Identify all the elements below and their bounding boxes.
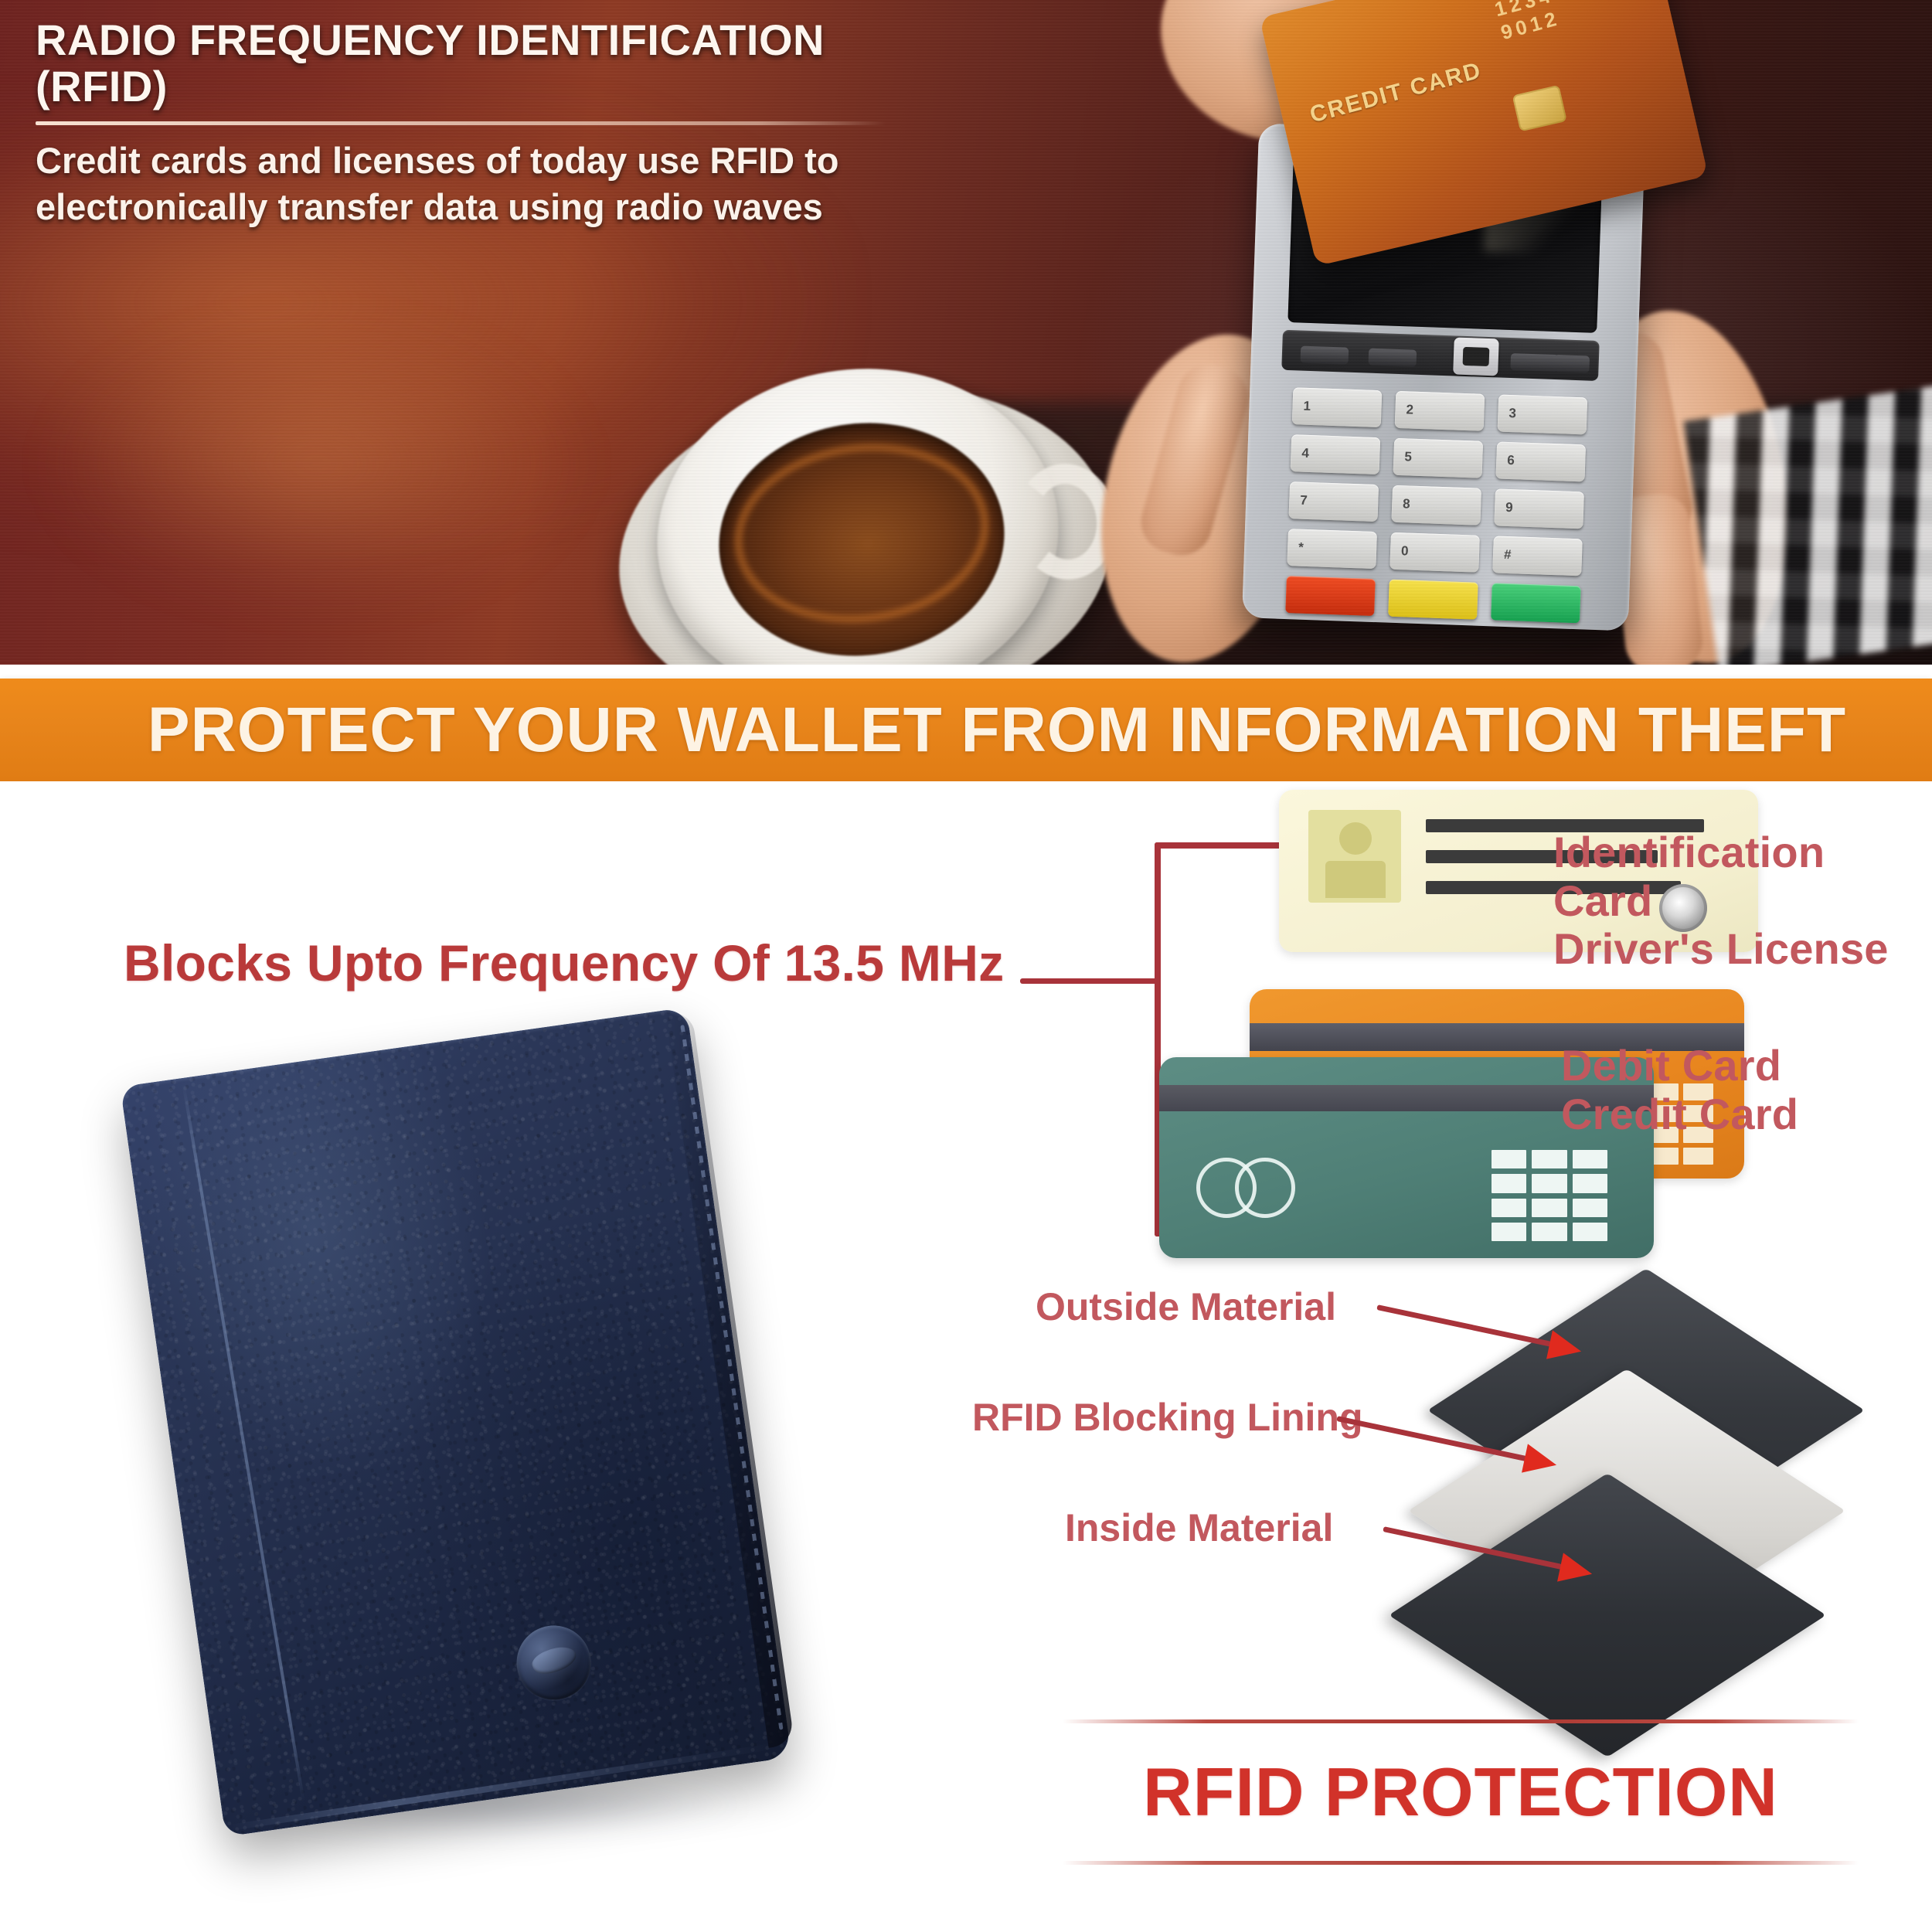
protect-wallet-banner: PROTECT YOUR WALLET FROM INFORMATION THE… [0, 679, 1932, 781]
header-subtitle-line2: electronically transfer data using radio… [36, 184, 947, 230]
frequency-label: Blocks Upto Frequency Of 13.5 MHz [124, 934, 1004, 992]
inside-material-label: Inside Material [1065, 1505, 1333, 1550]
terminal-keypad: 1 2 3 4 5 6 7 8 9 * 0 # [1285, 387, 1588, 623]
header-text-block: RADIO FREQUENCY IDENTIFICATION (RFID) Cr… [36, 17, 947, 230]
debit-card-label-line2: Credit Card [1561, 1090, 1798, 1139]
enter-key-green [1491, 583, 1581, 623]
function-key-row [1285, 576, 1581, 623]
keypad-row: 7 8 9 [1288, 481, 1584, 529]
clear-key-yellow [1388, 580, 1478, 620]
credit-card-number: 1234 5678 9012 [1492, 0, 1669, 45]
id-photo-placeholder [1308, 810, 1401, 903]
connector-dash [1020, 978, 1159, 984]
page-title: RADIO FREQUENCY IDENTIFICATION (RFID) [36, 17, 947, 111]
dual-circle-payment-logo-icon [1196, 1158, 1312, 1218]
header-subtitle-line1: Credit cards and licenses of today use R… [36, 138, 947, 184]
keypad-row: * 0 # [1287, 529, 1583, 576]
identification-card-label: Identification Card Driver's License [1553, 828, 1932, 974]
identification-card-label-line2: Driver's License [1553, 925, 1932, 974]
connector-branch-top [1155, 842, 1294, 849]
key-6: 6 [1495, 441, 1586, 481]
key-0: 0 [1389, 532, 1480, 573]
wood-table-highlight-secondary [46, 325, 587, 603]
card-number-grid-icon [1492, 1150, 1607, 1241]
emv-chip-icon [1512, 85, 1567, 132]
debit-credit-card-label: Debit Card Credit Card [1561, 1042, 1798, 1138]
key-7: 7 [1288, 481, 1379, 522]
key-4: 4 [1291, 434, 1381, 474]
hero-photo-banner: 1 2 3 4 5 6 7 8 9 * 0 # [0, 0, 1932, 665]
terminal-nav-right-arrow [1510, 353, 1559, 372]
outside-material-label: Outside Material [1036, 1284, 1336, 1329]
title-divider [36, 121, 886, 125]
key-2: 2 [1395, 391, 1485, 431]
terminal-nav-left-arrow [1368, 349, 1417, 367]
id-portrait-head-icon [1339, 822, 1372, 855]
wallet-product-area [93, 1020, 927, 1932]
wallet-product-image [120, 1007, 791, 1836]
debit-card-label-line1: Debit Card [1561, 1042, 1798, 1090]
key-9: 9 [1494, 488, 1584, 529]
id-portrait-body-icon [1325, 861, 1386, 898]
banner-text: PROTECT YOUR WALLET FROM INFORMATION THE… [0, 694, 1932, 767]
key-star: * [1287, 529, 1377, 569]
keypad-row: 1 2 3 [1292, 387, 1588, 434]
credit-card-label: CREDIT CARD [1308, 57, 1485, 128]
infographic-page: 1 2 3 4 5 6 7 8 9 * 0 # [0, 0, 1932, 1932]
footer-divider-top [1063, 1719, 1859, 1723]
footer-divider-bottom [1063, 1861, 1859, 1865]
cancel-key-red [1285, 576, 1376, 616]
identification-card-label-line1: Identification Card [1553, 828, 1932, 925]
key-3: 3 [1498, 395, 1588, 435]
key-5: 5 [1393, 438, 1484, 478]
keypad-row: 4 5 6 [1291, 434, 1587, 481]
background-keyboard [1684, 385, 1932, 665]
key-1: 1 [1292, 387, 1383, 427]
rfid-blocking-lining-label: RFID Blocking Lining [972, 1395, 1363, 1440]
terminal-nav-center-button [1453, 337, 1499, 376]
key-hash: # [1492, 536, 1583, 576]
terminal-nav-left-button [1301, 346, 1349, 365]
footer-title: RFID PROTECTION [1063, 1753, 1859, 1832]
key-8: 8 [1391, 485, 1481, 526]
terminal-nav-right-button [1553, 355, 1590, 373]
